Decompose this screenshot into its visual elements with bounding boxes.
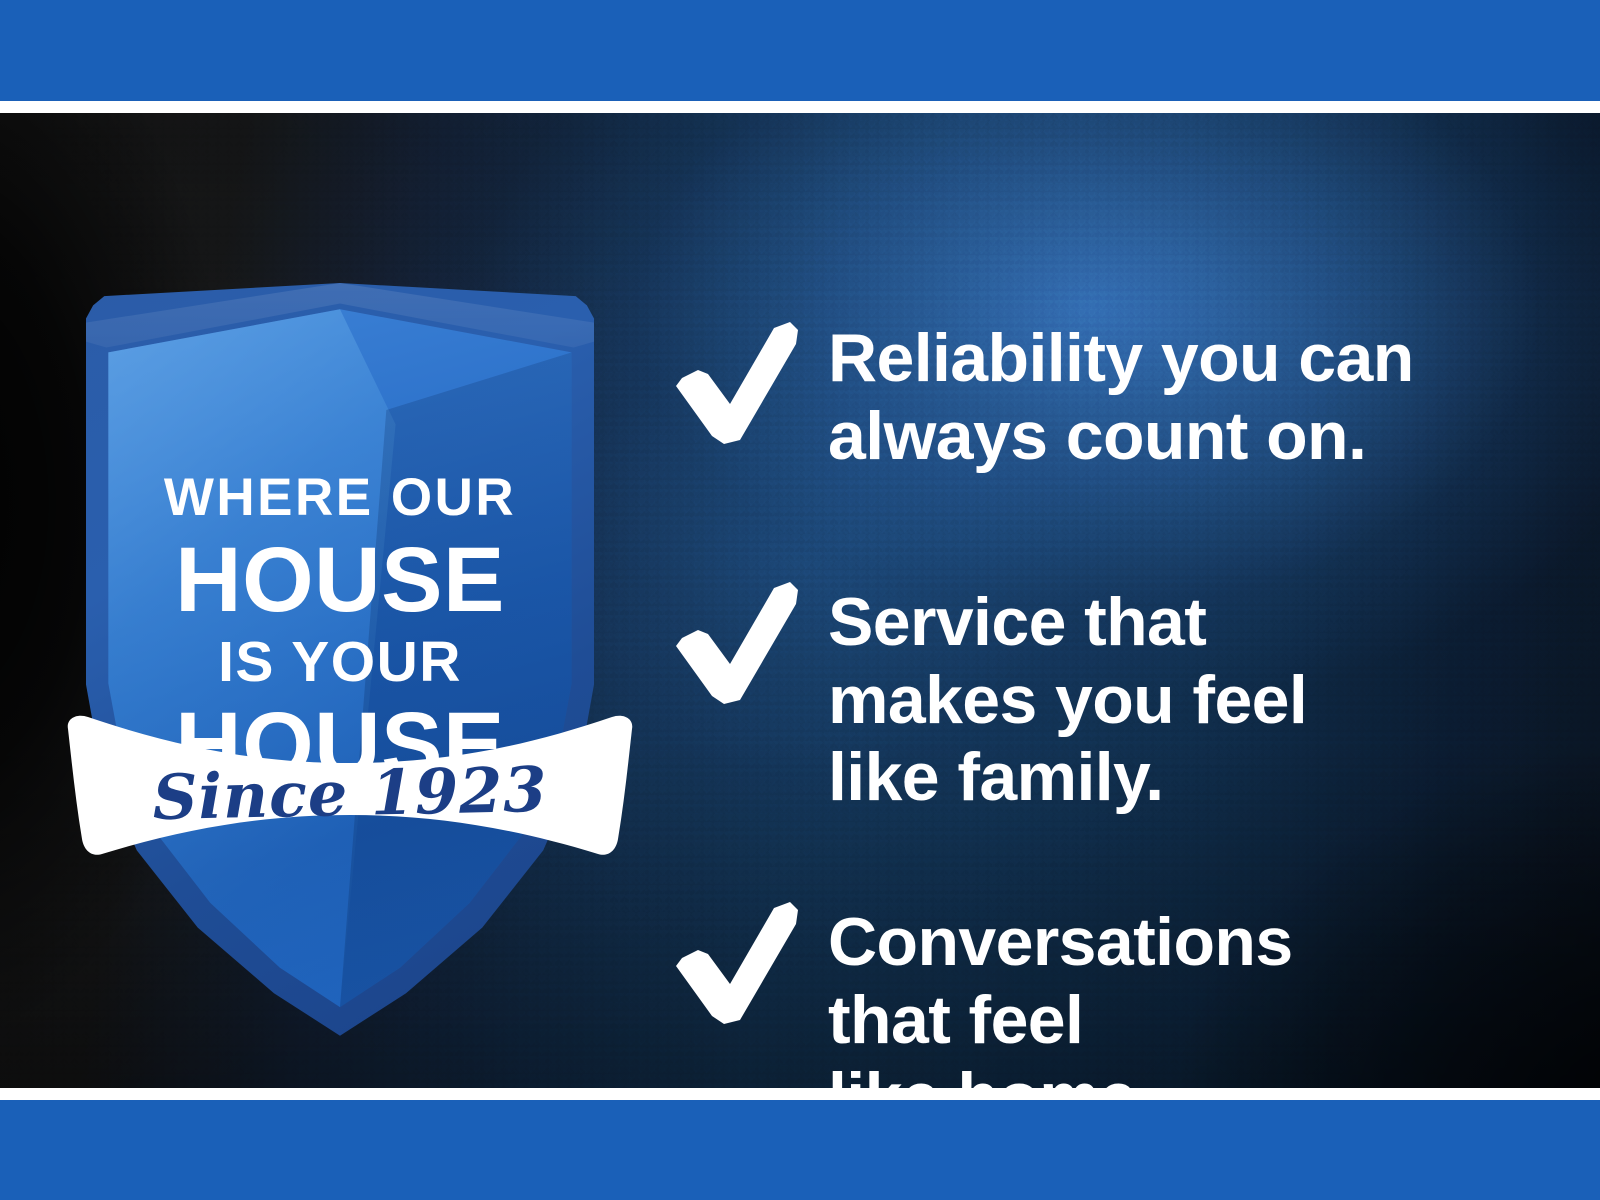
checkmark-icon — [668, 898, 806, 1026]
tagline-line-3: IS YOUR — [86, 634, 594, 691]
shield-icon: WHERE OUR HOUSE IS YOUR HOUSE — [86, 283, 594, 1055]
tagline-line-1: WHERE OUR — [86, 471, 594, 524]
promotional-banner: WHERE OUR HOUSE IS YOUR HOUSE Since 1923 — [0, 0, 1600, 1200]
benefit-item-conversations: Conversations that feel like home. — [668, 898, 1293, 1088]
benefit-text-reliability: Reliability you can always count on. — [828, 318, 1414, 475]
tagline-line-2: HOUSE — [86, 534, 594, 626]
shield-badge: WHERE OUR HOUSE IS YOUR HOUSE Since 1923 — [70, 283, 630, 1063]
checkmark-icon — [668, 318, 806, 446]
ribbon-label: Since 1923 — [61, 751, 638, 836]
brand-bar-top — [0, 0, 1600, 101]
checkmark-icon — [668, 578, 806, 706]
benefit-item-reliability: Reliability you can always count on. — [668, 318, 1414, 475]
benefit-text-conversations: Conversations that feel like home. — [828, 898, 1293, 1088]
benefit-item-service: Service that makes you feel like family. — [668, 578, 1307, 817]
brand-bar-bottom — [0, 1100, 1600, 1200]
main-stage: WHERE OUR HOUSE IS YOUR HOUSE Since 1923 — [0, 113, 1600, 1088]
ribbon-banner-icon: Since 1923 — [62, 707, 638, 871]
benefit-text-service: Service that makes you feel like family. — [828, 578, 1307, 817]
